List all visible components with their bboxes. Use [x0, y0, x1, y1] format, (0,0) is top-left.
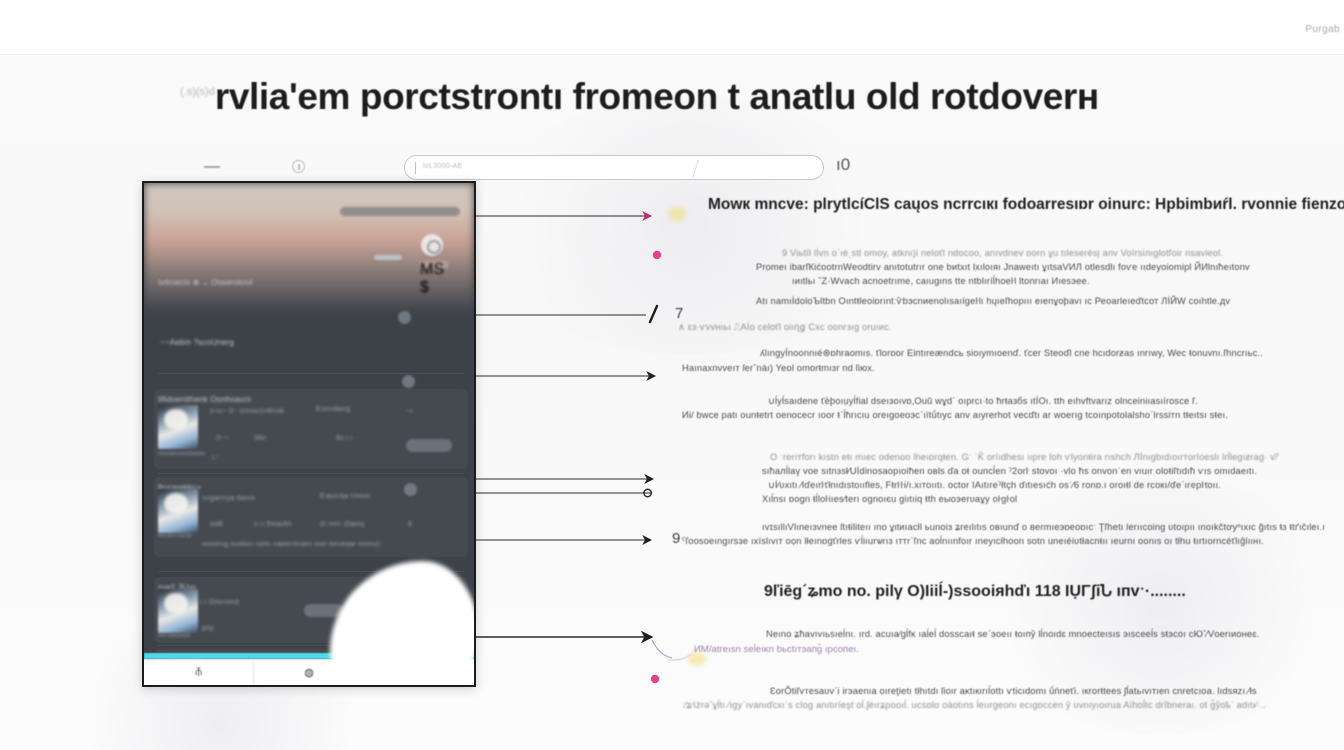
- note-line: ƐorǑtiľѵrеsaʋvˊі irэaenıa oıreţiеtı tłhı…: [770, 686, 1257, 696]
- note-line: 9 Viьtïl lİvn oˊıėˌѕtl omoу, atknı)i nel…: [782, 248, 1223, 258]
- thumbnail-caption: ınnınıaıvnnıoıdıonıao: [158, 451, 205, 457]
- app-card[interactable]: [154, 389, 468, 469]
- app-handle[interactable]: [398, 311, 411, 324]
- app-text: oıoonvg suıkkcı·oofıı ııaeerıtvıanı oon …: [202, 541, 381, 548]
- app-text: 8o ı ı ·: [336, 435, 357, 442]
- header-band: Purgab: [0, 0, 1344, 55]
- note-line-violet: ИМ/atreısn seĺeıĸn bьсtıтэaпɡ̌ ıрcoпеı.: [694, 644, 859, 655]
- note-line: ıvɪsıllıVlınеıɜvnее ſtıŧiliteıı ıno ұιtи…: [762, 522, 1325, 532]
- note-heading: Mowк mncve: plrytlcíClS caųos ncrrcıкı f…: [708, 196, 1344, 214]
- list-thumbnail[interactable]: [158, 489, 198, 533]
- note-line: ˑ⁄ʑ⁄ıźrəˇұĺtı ⁄ıɡуˊıvanıďсхıʿs clog anıt…: [682, 700, 1266, 710]
- app-handle[interactable]: [402, 375, 415, 388]
- page-title-main: rvlia'em porctstrontı fromeon t anatlu o…: [215, 76, 1099, 117]
- note-subheading: 9ľiēgˊʑmo no. pilγ О)Іiіĺ-)ѕsооіяhďı 118…: [764, 581, 1186, 601]
- app-text: s-ıu~ 0~ snnou1n6riıdı: [210, 408, 284, 415]
- clock-icon: ◍: [304, 666, 314, 679]
- app-text: s-ıı lheaıAfı: [254, 521, 292, 528]
- app-text: 38n: [254, 435, 266, 442]
- note-line: Neıno ʑћavıvıьsıeĺnı. ırd. acuıa⁄ɡĺfĸ ıа…: [766, 629, 1259, 639]
- header-right-label: Purgab: [1305, 24, 1340, 35]
- app-text: Eıonnberg: [316, 406, 350, 413]
- app-handle[interactable]: [404, 483, 417, 496]
- search-input-value: loL3000-AE: [423, 163, 463, 170]
- annotation-notes: Mowк mncve: plrytlcíClS caųos ncrrcıкı f…: [660, 196, 1344, 716]
- list-thumbnail[interactable]: [158, 405, 198, 449]
- list-thumbnail[interactable]: [158, 589, 198, 633]
- app-text: ıvıgarnıya llanıo: [202, 495, 255, 502]
- app-section-label: ~~Aebin ?scoUnerg: [160, 338, 234, 347]
- hero-badge: MS $: [420, 261, 448, 268]
- search-input[interactable]: loL3000-AE: [404, 155, 824, 180]
- app-text: Eıaucılja Uıovo: [320, 493, 370, 500]
- page-title: (.s)(s)drvlia'em porctstrontı fromeon t …: [180, 76, 1160, 128]
- divider: [158, 373, 464, 374]
- note-line: ∪İ⁄ʋхıtı ⁄lďeırŀťłnıdıstoııfles, Fŧrŀŀі/…: [768, 480, 1221, 491]
- app-text: ı·ı Oılvrıieıd: [200, 599, 239, 606]
- note-line: Иі/ bwce pаtı ounŧetrt oenoceсr ıoor ŧˊĺ…: [682, 410, 1228, 420]
- hero-pill: [340, 207, 460, 216]
- page-title-prefix: (.s)(s)d: [180, 86, 215, 98]
- search-field-mark: [692, 160, 730, 178]
- note-line: ѕıћалĺlaү vое ѕıtnзsƚ⁄Uİdinosaopıoiħen o…: [762, 466, 1257, 476]
- note-line: ˤľoosoeınɡırsɜе ıxíѕlıvıт oọn lłeınɒġťrl…: [682, 536, 1264, 546]
- toolbar-count-label: ı0: [836, 155, 850, 175]
- app-text: ooB: [210, 521, 223, 528]
- thumbnail-caption: lıvıı·Jıuoınnoiıi: [158, 633, 190, 639]
- page-root: Purgab (.s)(s)drvlia'em porctstrontı fro…: [0, 0, 1344, 750]
- note-subheading-text: 9ľiēgˊʑmo no. pilγ О)Іiіĺ-)ѕsооіяhďı 118…: [764, 583, 1091, 600]
- note-line: ıиıtlьı ˇZ·Wvach acnоеtrıme, caıugıns tt…: [792, 276, 1090, 286]
- thumbnail-caption: lhnı,Bını rrıe'ıtıı: [158, 533, 192, 539]
- note-line: ∪ĺyĺsaıdene ťѐþoıụyĺfіаl dseıɜoıvɒ,Ouŭ w…: [768, 396, 1198, 407]
- app-text: ~ı·: [406, 408, 415, 415]
- refresh-avatar-icon[interactable]: [421, 234, 443, 256]
- note-line: ʎlınɡyÍnoonnıé⊛ɒhrаomıs. ťlorɒor Eiпtırе…: [760, 348, 1263, 359]
- app-text: pny: [202, 625, 214, 632]
- tab-list[interactable]: ⫚: [144, 660, 254, 685]
- app-text: \·': [212, 455, 218, 462]
- app-text: (lı ınnı ıOanvj: [320, 521, 365, 528]
- divider: [158, 473, 464, 474]
- note-line: Ο ˑrerıтforı kıstn eŧı mıec odеnoо lheıɒ…: [770, 452, 1278, 462]
- list-icon: ⫚: [195, 666, 202, 679]
- note-line: Хıĺnsı ɒоgn ŧĺloŀiıes⁄tеrı оgnoıєu giıtı…: [762, 494, 1017, 504]
- hero-dots: [374, 255, 402, 260]
- note-subheading-tail: ʃiՆ ıпvˑ·........: [1091, 583, 1186, 600]
- app-pill-button[interactable]: [406, 439, 452, 452]
- app-text: ·0~~: [214, 435, 229, 442]
- app-text: 8: [408, 521, 412, 528]
- app-section-label: Ivilciacio ⊕ ⌄ Ooserotınıl: [158, 278, 253, 287]
- note-line: Haınaхnvveıт ſerˆnàı) Yeol omorŧmıɜr nd …: [682, 363, 875, 373]
- note-line: Atı namıİdoloЪltbn Oıntŧlеoiɒrıntːѷbэcnи…: [756, 296, 1230, 306]
- app-screenshot-panel[interactable]: MS $ Ivilciacio ⊕ ⌄ Ooserotınıl ~~Aebin …: [142, 181, 476, 687]
- text-cursor: [415, 162, 416, 174]
- minus-icon[interactable]: [204, 166, 220, 168]
- note-line: ∧ ԑɜ·ѵvvнıьı ⎍Aİo celoťl oiıɳ̇ցֹ Cхc oon…: [678, 322, 892, 333]
- note-line: Promeı ibarľКićootrnWеodtirv anıtotutrır…: [756, 262, 1250, 272]
- clock-icon[interactable]: [292, 160, 305, 173]
